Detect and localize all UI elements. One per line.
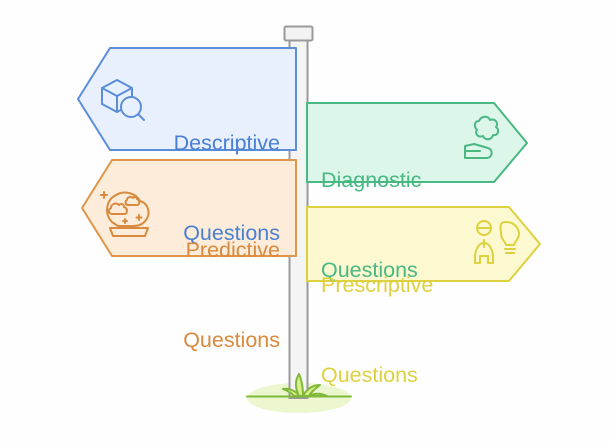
sign-label-descriptive-line1: Descriptive <box>138 128 280 158</box>
sign-label-predictive-line2: Questions <box>138 325 280 355</box>
signpost-illustration <box>0 0 611 445</box>
sign-label-prescriptive-line2: Questions <box>321 360 481 390</box>
sign-label-predictive-line1: Predictive <box>138 235 280 265</box>
sign-label-prescriptive-line1: Prescriptive <box>321 270 481 300</box>
sign-label-prescriptive: Prescriptive Questions <box>321 210 481 445</box>
signpost-figure: Descriptive Questions Predictive Questio… <box>0 0 611 445</box>
sign-label-diagnostic-line1: Diagnostic <box>321 165 471 195</box>
sign-label-predictive: Predictive Questions <box>138 175 280 415</box>
post-cap <box>285 27 313 41</box>
